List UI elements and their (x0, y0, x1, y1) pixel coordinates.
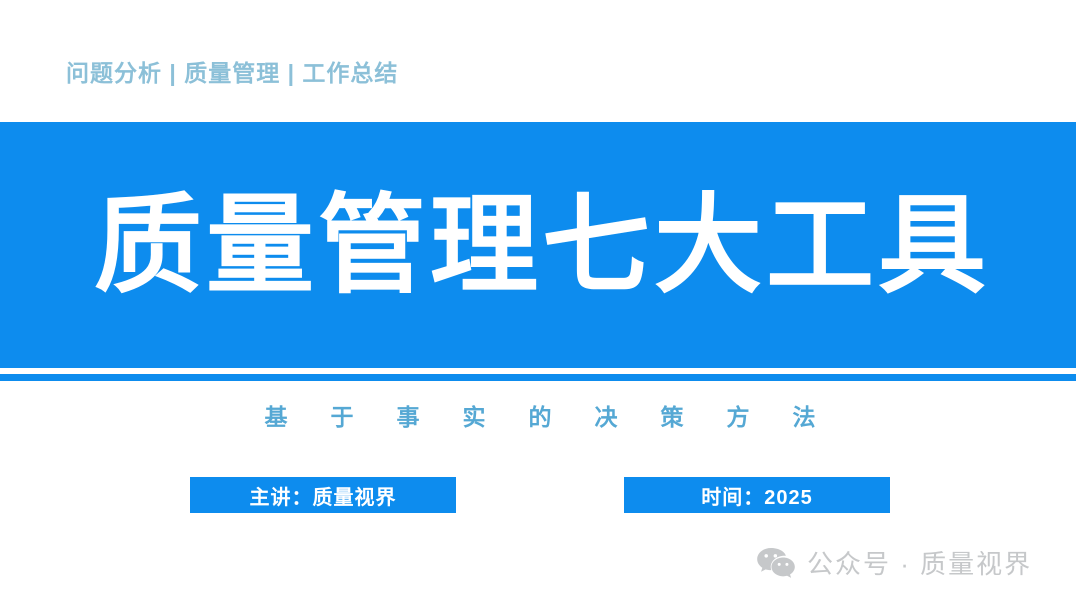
slide-title: 质量管理七大工具 (0, 188, 1076, 301)
slide-kicker: 问题分析 | 质量管理 | 工作总结 (66, 62, 398, 85)
accent-rule (0, 374, 1076, 381)
speaker-label: 主讲：质量视界 (250, 481, 397, 510)
slide-subtitle: 基于事实的决策方法 (0, 403, 1080, 433)
watermark-label: 公众号 · 质量视界 (807, 551, 1032, 577)
date-label: 时间：2025 (701, 481, 813, 510)
date-badge: 时间：2025 (624, 477, 890, 513)
title-banner: 质量管理七大工具 (0, 122, 1076, 368)
watermark: 公众号 · 质量视界 (757, 548, 1032, 580)
wechat-icon (757, 548, 795, 580)
speaker-badge: 主讲：质量视界 (190, 477, 456, 513)
presentation-slide: 问题分析 | 质量管理 | 工作总结 质量管理七大工具 基于事实的决策方法 主讲… (0, 0, 1080, 607)
